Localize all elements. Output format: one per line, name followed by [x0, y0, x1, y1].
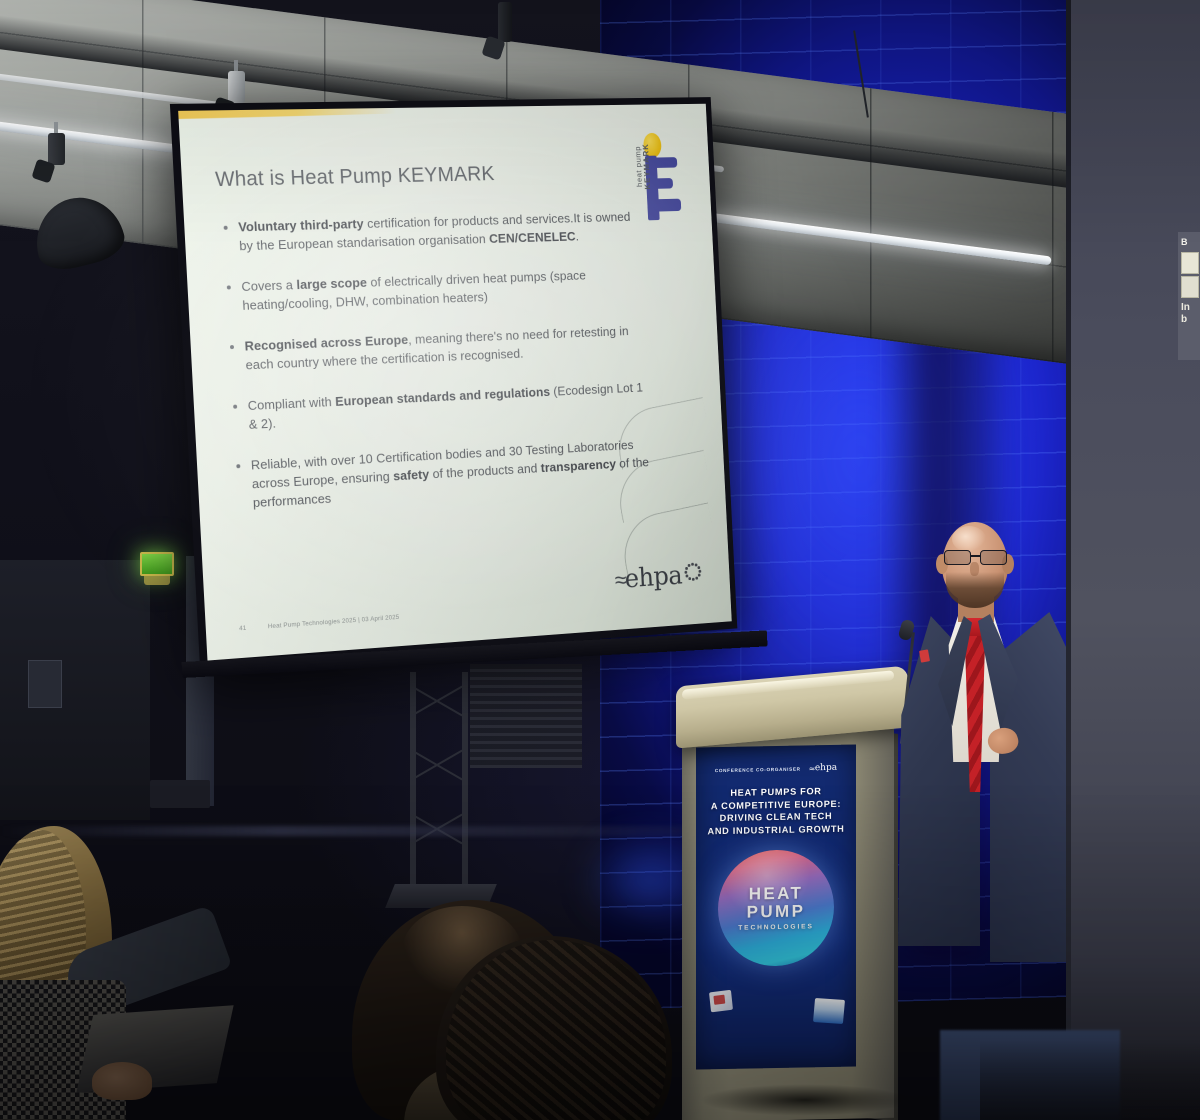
brand-line-pump: PUMP	[747, 902, 806, 921]
stage-equipment-box	[150, 780, 210, 808]
slide-bullet-text: Compliant with European standards and re…	[247, 378, 650, 434]
bullet-segment: .	[575, 229, 579, 243]
bullet-segment: safety	[393, 467, 430, 484]
stage-grille-panel	[470, 664, 582, 768]
ehpa-star-dot	[688, 564, 690, 567]
projection-screen: heat pump KEYMARK What is Heat Pump KEYM…	[170, 97, 737, 669]
truss-leg-left	[410, 672, 416, 890]
slide-bullet-text: Recognised across Europe, meaning there'…	[244, 321, 647, 374]
poster-heading: B	[1181, 238, 1197, 247]
spotlight-stem	[54, 122, 58, 133]
lectern-ehpa-wordmark: ehpa	[815, 763, 837, 773]
ehpa-star-dot	[695, 577, 697, 580]
ehpa-stars-icon	[681, 561, 702, 587]
lectern-branding-panel: CONFERENCE CO-ORGANISER ≈ehpa HEAT PUMPS…	[696, 744, 856, 1069]
ehpa-star-dot	[686, 574, 688, 577]
slide-bullet-text: Covers a large scope of electrically dri…	[241, 264, 644, 315]
lectern-co-organiser-row: CONFERENCE CO-ORGANISER ≈ehpa	[696, 762, 856, 775]
slide-number: 41	[239, 625, 247, 632]
eyeglasses	[943, 550, 1009, 566]
lectern-ehpa-logo: ≈ehpa	[809, 763, 837, 774]
poster-body-line-1: In	[1181, 302, 1200, 313]
ehpa-wordmark: ehpa	[624, 564, 683, 592]
heat-pump-technologies-sphere-logo: HEAT PUMP TECHNOLOGIES	[718, 849, 834, 967]
bullet-segment: Covers a	[241, 277, 297, 294]
slide-bullet-text: Voluntary third-party certification for …	[238, 207, 642, 255]
slide-bullet: Reliable, with over 10 Certification bod…	[236, 433, 690, 513]
foreground-shadow	[980, 1040, 1200, 1120]
slide-surface: heat pump KEYMARK What is Heat Pump KEYM…	[178, 104, 732, 661]
ehpa-star-dot	[684, 571, 686, 574]
poster-body-line-2: b	[1181, 314, 1200, 325]
eyeglass-lens-left	[944, 550, 971, 565]
poster-image-box-2	[1181, 276, 1199, 298]
bullet-segment: of the products and	[429, 461, 541, 482]
bullet-dot-icon	[230, 345, 234, 349]
bullet-segment: transparency	[540, 457, 616, 475]
sphere-logo-text: HEAT PUMP TECHNOLOGIES	[718, 849, 834, 967]
bullet-segment: large scope	[296, 275, 367, 292]
right-wall	[1066, 0, 1200, 1120]
ehpa-star-dot	[685, 567, 687, 570]
ehpa-star-dot	[691, 563, 693, 566]
brand-line-technologies: TECHNOLOGIES	[738, 923, 814, 931]
bullet-dot-icon	[224, 226, 228, 230]
bullet-dot-icon	[227, 285, 231, 289]
wall-poster: B In b	[1178, 232, 1200, 360]
ehpa-star-dot	[697, 566, 699, 569]
ceiling-spotlight-2	[48, 122, 65, 181]
beard	[946, 572, 1004, 608]
slide-bullet: Voluntary third-party certification for …	[223, 206, 677, 255]
sponsor-logo-left	[709, 990, 733, 1013]
conference-photo-scene: heat pump KEYMARK What is Heat Pump KEYM…	[0, 0, 1200, 1120]
spotlight-body	[498, 2, 512, 42]
spotlight-body	[48, 133, 65, 165]
sponsor-logo-left-mark	[713, 995, 725, 1005]
audience-member-left-hands	[92, 1062, 152, 1100]
slide-bullet-text: Reliable, with over 10 Certification bod…	[250, 435, 653, 512]
right-wall-edge	[1066, 0, 1071, 1120]
bullet-segment: European standards and regulations	[335, 384, 551, 409]
bullet-dot-icon	[233, 405, 237, 409]
slide-bullet: Covers a large scope of electrically dri…	[226, 263, 680, 315]
slide-bullet: Recognised across Europe, meaning there'…	[230, 320, 684, 375]
spotlight-stem	[234, 60, 238, 71]
exit-sign	[140, 552, 174, 576]
poster-image-box-1	[1181, 252, 1199, 274]
bullet-segment: Recognised across Europe	[244, 332, 408, 353]
eyeglass-lens-right	[980, 550, 1007, 565]
ehpa-star-dot	[699, 570, 701, 573]
exit-sign-base	[144, 576, 170, 585]
lectern-co-organiser-label: CONFERENCE CO-ORGANISER	[715, 766, 801, 773]
left-wall-panel	[0, 560, 150, 820]
ehpa-star-dot	[688, 577, 690, 580]
lighting-truss	[408, 672, 472, 904]
ehpa-star-dot	[698, 574, 700, 577]
spotlight-body	[228, 71, 245, 103]
slide-title: What is Heat Pump KEYMARK	[215, 159, 675, 192]
bullet-segment: Compliant with	[247, 394, 335, 413]
bullet-segment: Voluntary third-party	[238, 216, 364, 234]
bullet-dot-icon	[236, 464, 240, 468]
ehpa-star-dot	[692, 578, 694, 581]
slide-bullet: Compliant with European standards and re…	[233, 376, 686, 434]
head-highlight	[952, 526, 986, 552]
wall-frame	[28, 660, 62, 708]
slide-bullet-list: Voluntary third-party certification for …	[217, 206, 690, 513]
lectern-event-title-line: AND INDUSTRIAL GROWTH	[696, 822, 856, 838]
ceiling-spotlight-3	[498, 2, 512, 58]
sponsor-logo-right	[813, 998, 845, 1024]
lapel-badge	[919, 649, 930, 662]
bullet-segment: CEN/CENELEC	[489, 229, 576, 246]
eyeglass-bridge	[971, 555, 980, 557]
lectern-event-title: HEAT PUMPS FORA COMPETITIVE EUROPE:DRIVI…	[696, 784, 856, 837]
truss-leg-right	[462, 672, 468, 890]
